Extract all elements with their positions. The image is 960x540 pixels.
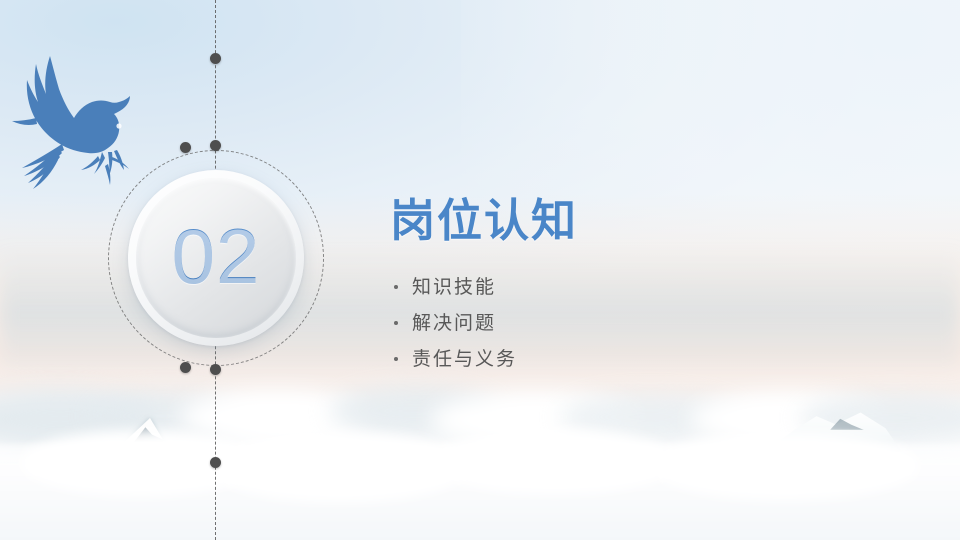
presentation-slide: 02 岗位认知 知识技能 解决问题 责任与义务 (0, 0, 960, 540)
list-item-label: 责任与义务 (412, 350, 517, 369)
bullet-dot-icon (394, 321, 398, 325)
bullet-dot-icon (394, 357, 398, 361)
page-title: 岗位认知 (390, 196, 870, 246)
section-number-badge[interactable]: 02 (108, 150, 324, 366)
bullet-list: 知识技能 解决问题 责任与义务 (390, 278, 870, 369)
connector-dot-icon (180, 142, 191, 153)
list-item[interactable]: 知识技能 (390, 278, 870, 297)
connector-dot-icon (210, 364, 221, 375)
section-number: 02 (136, 178, 296, 338)
cloud-puff (430, 430, 680, 494)
list-item-label: 解决问题 (412, 314, 496, 333)
bullet-dot-icon (394, 285, 398, 289)
list-item-label: 知识技能 (412, 278, 496, 297)
list-item[interactable]: 责任与义务 (390, 350, 870, 369)
connector-dot-icon (210, 457, 221, 468)
connector-dot-icon (210, 53, 221, 64)
slide-content: 岗位认知 知识技能 解决问题 责任与义务 (390, 196, 870, 386)
connector-dot-icon (210, 140, 221, 151)
cloud-puff (650, 432, 920, 500)
list-item[interactable]: 解决问题 (390, 314, 870, 333)
connector-dot-icon (180, 362, 191, 373)
